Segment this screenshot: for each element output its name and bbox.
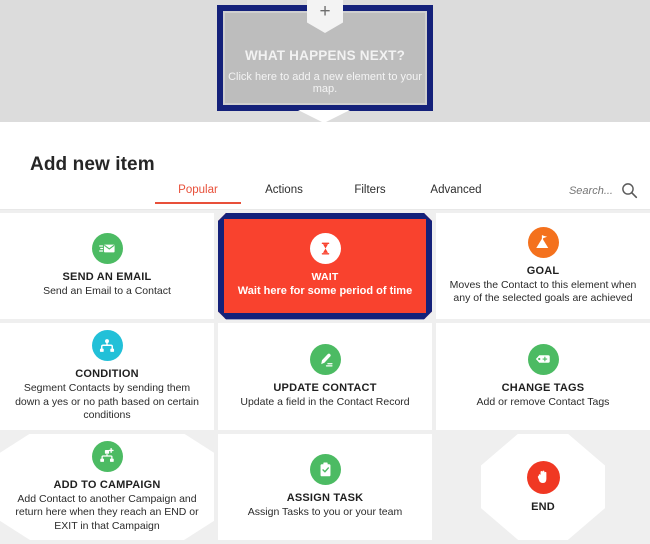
item-title: CONDITION bbox=[75, 368, 139, 380]
node-title: WHAT HAPPENS NEXT? bbox=[223, 48, 427, 63]
item-title: CHANGE TAGS bbox=[502, 382, 585, 394]
tab-popular[interactable]: Popular bbox=[155, 184, 241, 204]
clipboard-check-icon bbox=[310, 454, 341, 485]
item-description: Add or remove Contact Tags bbox=[477, 396, 610, 410]
item-description: Segment Contacts by sending them down a … bbox=[10, 382, 204, 423]
grid-cell: UPDATE CONTACT Update a field in the Con… bbox=[218, 323, 432, 429]
hourglass-icon bbox=[310, 233, 341, 264]
item-card-add-to-campaign[interactable]: ADD TO CAMPAIGN Add Contact to another C… bbox=[0, 434, 214, 540]
tab-actions[interactable]: Actions bbox=[241, 184, 327, 204]
sitemap-plus-icon bbox=[92, 441, 123, 472]
tag-icon bbox=[528, 344, 559, 375]
item-description: Wait here for some period of time bbox=[238, 285, 412, 299]
tab-filters[interactable]: Filters bbox=[327, 184, 413, 204]
item-description: Send an Email to a Contact bbox=[43, 285, 171, 299]
tab-advanced[interactable]: Advanced bbox=[413, 184, 499, 204]
page-title: Add new item bbox=[30, 154, 155, 176]
item-grid: SEND AN EMAIL Send an Email to a Contact… bbox=[0, 210, 650, 544]
campaign-map-canvas: + WHAT HAPPENS NEXT? Click here to add a… bbox=[0, 0, 650, 122]
item-card-change-tags[interactable]: CHANGE TAGS Add or remove Contact Tags bbox=[436, 323, 650, 429]
grid-cell: CONDITION Segment Contacts by sending th… bbox=[0, 323, 214, 429]
branch-icon bbox=[92, 330, 123, 361]
grid-cell: WAIT Wait here for some period of time bbox=[218, 213, 432, 319]
search-input[interactable] bbox=[551, 185, 613, 197]
item-card-assign-task[interactable]: ASSIGN TASK Assign Tasks to you or your … bbox=[218, 434, 432, 540]
item-description: Assign Tasks to you or your team bbox=[248, 506, 402, 520]
item-title: END bbox=[531, 501, 555, 513]
tab-bar: Popular Actions Filters Advanced bbox=[155, 184, 499, 204]
item-title: GOAL bbox=[527, 265, 560, 277]
item-card-update-contact[interactable]: UPDATE CONTACT Update a field in the Con… bbox=[218, 323, 432, 429]
pencil-edit-icon bbox=[310, 344, 341, 375]
grid-cell: ASSIGN TASK Assign Tasks to you or your … bbox=[218, 434, 432, 540]
item-description: Moves the Contact to this element when a… bbox=[446, 279, 640, 306]
grid-cell: GOAL Moves the Contact to this element w… bbox=[436, 213, 650, 319]
envelope-icon bbox=[92, 233, 123, 264]
item-title: WAIT bbox=[311, 271, 338, 283]
item-description: Update a field in the Contact Record bbox=[240, 396, 409, 410]
grid-cell: CHANGE TAGS Add or remove Contact Tags bbox=[436, 323, 650, 429]
item-card-send-an-email[interactable]: SEND AN EMAIL Send an Email to a Contact bbox=[0, 213, 214, 319]
item-title: SEND AN EMAIL bbox=[63, 271, 152, 283]
item-description: Add Contact to another Campaign and retu… bbox=[10, 493, 204, 534]
grid-cell: END bbox=[436, 434, 650, 540]
grid-cell: ADD TO CAMPAIGN Add Contact to another C… bbox=[0, 434, 214, 540]
plus-icon: + bbox=[307, 2, 343, 22]
search-area bbox=[551, 182, 638, 199]
item-title: UPDATE CONTACT bbox=[273, 382, 376, 394]
node-subtitle: Click here to add a new element to your … bbox=[223, 71, 427, 95]
panel-pointer-arrow bbox=[298, 110, 350, 123]
item-card-wait[interactable]: WAIT Wait here for some period of time bbox=[218, 213, 432, 319]
panel-header: Add new item Popular Actions Filters Adv… bbox=[0, 122, 650, 210]
add-new-item-panel: Add new item Popular Actions Filters Adv… bbox=[0, 122, 650, 544]
item-card-end[interactable]: END bbox=[481, 434, 605, 540]
search-icon[interactable] bbox=[621, 182, 638, 199]
grid-cell: SEND AN EMAIL Send an Email to a Contact bbox=[0, 213, 214, 319]
item-title: ASSIGN TASK bbox=[287, 492, 364, 504]
item-card-goal[interactable]: GOAL Moves the Contact to this element w… bbox=[436, 213, 650, 319]
item-card-condition[interactable]: CONDITION Segment Contacts by sending th… bbox=[0, 323, 214, 429]
item-title: ADD TO CAMPAIGN bbox=[53, 479, 160, 491]
stop-hand-icon bbox=[527, 461, 560, 494]
flag-mountain-icon bbox=[528, 227, 559, 258]
